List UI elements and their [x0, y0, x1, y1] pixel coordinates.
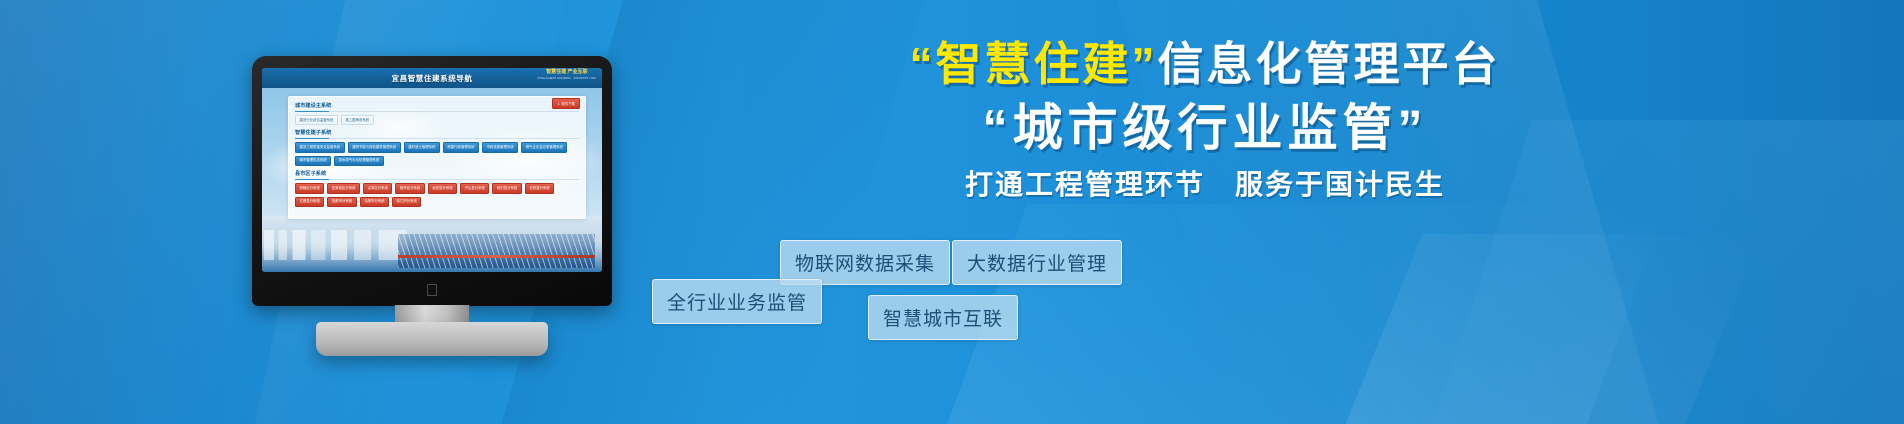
nav-tag[interactable]: 秭归县分系统	[492, 183, 521, 193]
feature-pill-smart-city-interconnection[interactable]: 智慧城市互联	[868, 295, 1018, 340]
nav-tag[interactable]: 伍家岗区分系统	[327, 183, 360, 193]
tag-row-county-system: 西陵区分系统 伍家岗区分系统 点军区分系统 猚亭区分系统 远安县分系统 兴山县分…	[295, 183, 579, 207]
navigation-panel: 城市建设主系统 建设行业综合监管系统 施工图审查系统 智慧住建子系统 建设工程质…	[288, 96, 586, 219]
section-title-smart-housing: 智慧住建子系统	[295, 129, 579, 139]
nav-tag[interactable]: 点军区分系统	[363, 183, 392, 193]
headline-line-1: “智慧住建”信息化管理平台	[640, 36, 1770, 92]
nav-tag[interactable]: 施工图审查系统	[341, 115, 374, 125]
screen-content: 宜昌智慧住建系统导航 智慧住建 产业互联 INTELLIGENT HOUSING…	[262, 68, 602, 272]
nav-tag[interactable]: 城市管理执法系统	[295, 156, 331, 166]
nav-tag[interactable]: 建材渣土管理系统	[404, 142, 440, 152]
tag-row-main-system: 建设行业综合监管系统 施工图审查系统	[295, 115, 579, 125]
headline-quote-open: “	[910, 38, 936, 90]
bridge-graphic	[398, 234, 595, 268]
nav-tag[interactable]: 长阳县分系统	[525, 183, 554, 193]
cityscape-photo	[262, 216, 602, 272]
software-download-label: 软件下载	[561, 101, 575, 106]
headline-keyword: 智慧住建	[936, 38, 1132, 90]
promo-banner: 宜昌智慧住建系统导航 智慧住建 产业互联 INTELLIGENT HOUSING…	[0, 0, 1904, 424]
nav-tag[interactable]: 当阳市分系统	[360, 197, 389, 207]
download-icon: ⇓	[557, 102, 560, 106]
screen-logo-cn: 智慧住建 产业互联	[546, 69, 587, 75]
screen-header-title: 宜昌智慧住建系统导航	[392, 73, 473, 84]
headline-block: “智慧住建”信息化管理平台 “城市级行业监管” 打通工程管理环节 服务于国计民生	[640, 36, 1770, 202]
section-title-county-system: 县市区子系统	[295, 170, 579, 180]
monitor-display-area: 宜昌智慧住建系统导航 智慧住建 产业互联 INTELLIGENT HOUSING…	[262, 68, 602, 272]
software-download-button[interactable]: ⇓ 软件下载	[552, 98, 580, 109]
feature-pill-all-industry-supervision[interactable]: 全行业业务监管	[652, 279, 822, 324]
nav-tag[interactable]: 供水供气污水处理管理系统	[334, 156, 384, 166]
nav-tag[interactable]: 枝江市分系统	[392, 197, 421, 207]
headline-line-1-rest: 信息化管理平台	[1158, 38, 1501, 90]
monitor-bezel: 宜昌智慧住建系统导航 智慧住建 产业互联 INTELLIGENT HOUSING…	[252, 56, 612, 306]
headline-line-3: 打通工程管理环节 服务于国计民生	[640, 168, 1770, 202]
screen-body: 城市建设主系统 建设行业综合监管系统 施工图审查系统 智慧住建子系统 建设工程质…	[262, 88, 602, 219]
section-title-main-system: 城市建设主系统	[295, 102, 579, 112]
headline-line-2: “城市级行业监管”	[640, 98, 1770, 158]
imac-monitor-illustration: 宜昌智慧住建系统导航 智慧住建 产业互联 INTELLIGENT HOUSING…	[252, 56, 612, 306]
screen-logo: 智慧住建 产业互联 INTELLIGENT HOUSING · INDUSTRY…	[538, 70, 596, 80]
tag-row-smart-housing: 建设工程质量安全监管系统 建筑节能与绿色建筑管理系统 建材渣土管理系统 房屋行政…	[295, 142, 579, 166]
nav-tag[interactable]: 五峰县分系统	[295, 197, 324, 207]
buildings-silhouette	[264, 230, 407, 260]
nav-tag[interactable]: 建设工程质量安全监管系统	[295, 142, 345, 152]
apple-logo-icon: 	[426, 282, 439, 299]
screen-logo-en: INTELLIGENT HOUSING · INDUSTRY LINK	[538, 77, 596, 80]
nav-tag[interactable]: 远安县分系统	[428, 183, 457, 193]
screen-header-bar: 宜昌智慧住建系统导航 智慧住建 产业互联 INTELLIGENT HOUSING…	[262, 68, 602, 88]
background-facet-7	[1346, 234, 1763, 424]
nav-tag[interactable]: 兴山县分系统	[460, 183, 489, 193]
monitor-stand-neck	[395, 305, 469, 323]
nav-tag[interactable]: 建筑节能与绿色建筑管理系统	[348, 142, 401, 152]
nav-tag[interactable]: 市政设施管理系统	[482, 142, 518, 152]
nav-tag[interactable]: 燃气企业监记录管理系统	[521, 142, 567, 152]
monitor-stand-base	[316, 322, 548, 356]
nav-tag[interactable]: 猚亭区分系统	[395, 183, 424, 193]
headline-quote-close: ”	[1132, 38, 1158, 90]
feature-pill-bigdata-industry-management[interactable]: 大数据行业管理	[952, 240, 1122, 285]
background-facet-5	[933, 204, 1668, 424]
nav-tag[interactable]: 西陵区分系统	[295, 183, 324, 193]
nav-tag[interactable]: 房屋行政管理系统	[443, 142, 479, 152]
nav-tag[interactable]: 宜都市分系统	[327, 197, 356, 207]
nav-tag[interactable]: 建设行业综合监管系统	[295, 115, 338, 125]
